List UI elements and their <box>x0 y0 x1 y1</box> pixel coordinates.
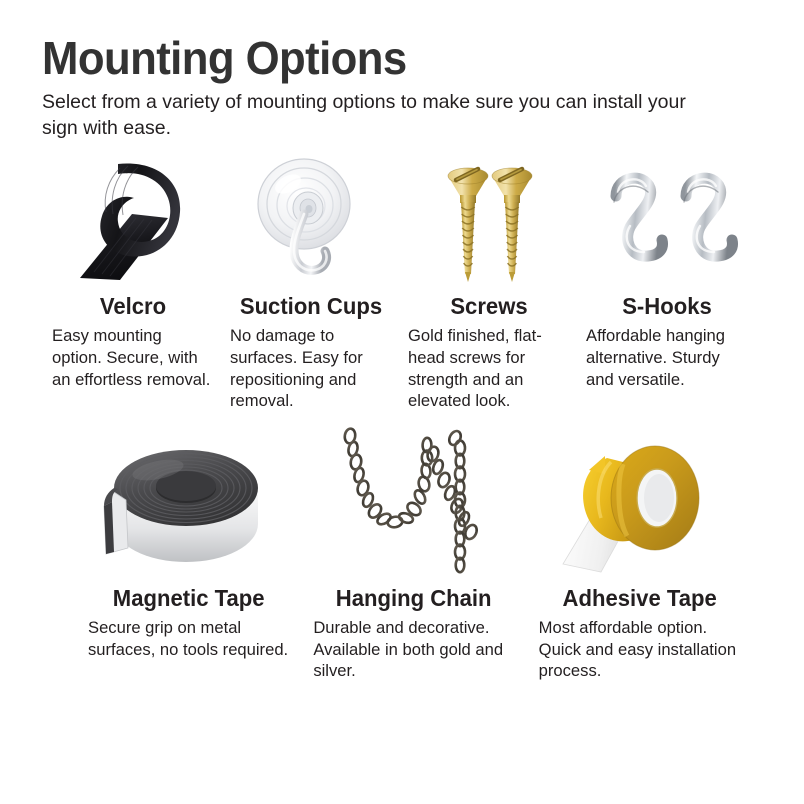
option-description: No damage to surfaces. Easy for repositi… <box>228 325 394 411</box>
option-description: Secure grip on metal surfaces, no tools … <box>82 617 295 660</box>
option-card-magnetic-tape[interactable]: Magnetic Tape Secure grip on metal surfa… <box>76 426 301 660</box>
option-card-hanging-chain[interactable]: Hanging Chain Durable and decorative. Av… <box>301 426 526 682</box>
page-subtitle: Select from a variety of mounting option… <box>42 90 722 142</box>
adhesive-tape-roll-icon <box>533 426 746 576</box>
option-card-velcro[interactable]: Velcro Easy mounting option. Secure, wit… <box>44 156 222 390</box>
option-description: Gold finished, flat-head screws for stre… <box>406 325 572 411</box>
option-description: Durable and decorative. Available in bot… <box>307 617 520 682</box>
option-title: Hanging Chain <box>312 586 517 611</box>
option-description: Most affordable option. Quick and easy i… <box>533 617 746 682</box>
velcro-strap-icon <box>50 156 216 284</box>
option-title: S-Hooks <box>587 294 746 319</box>
mounting-options-page: Mounting Options Select from a variety o… <box>0 0 804 804</box>
option-title: Velcro <box>53 294 212 319</box>
page-title: Mounting Options <box>42 34 726 82</box>
option-title: Suction Cups <box>231 294 390 319</box>
option-card-screws[interactable]: Screws Gold finished, flat-head screws f… <box>400 156 578 412</box>
s-hooks-icon <box>584 156 750 284</box>
option-title: Magnetic Tape <box>86 586 291 611</box>
option-description: Affordable hanging alternative. Sturdy a… <box>584 325 750 390</box>
option-card-suction-cups[interactable]: Suction Cups No damage to surfaces. Easy… <box>222 156 400 412</box>
mounting-options-row-2: Magnetic Tape Secure grip on metal surfa… <box>42 426 762 682</box>
option-card-adhesive-tape[interactable]: Adhesive Tape Most affordable option. Qu… <box>527 426 752 682</box>
magnetic-tape-roll-icon <box>82 426 295 576</box>
option-title: Screws <box>409 294 568 319</box>
flat-head-screws-icon <box>406 156 572 284</box>
option-description: Easy mounting option. Secure, with an ef… <box>50 325 216 390</box>
option-card-s-hooks[interactable]: S-Hooks Affordable hanging alternative. … <box>578 156 756 390</box>
hanging-chain-icon <box>307 426 520 576</box>
option-title: Adhesive Tape <box>537 586 742 611</box>
suction-cup-hook-icon <box>228 156 394 284</box>
mounting-options-row-1: Velcro Easy mounting option. Secure, wit… <box>42 156 762 412</box>
